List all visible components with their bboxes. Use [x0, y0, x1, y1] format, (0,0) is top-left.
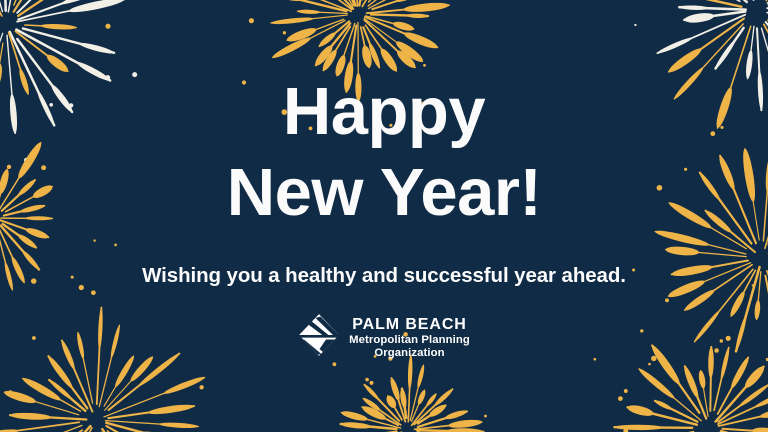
palm-beach-mpo-diamond-logo-icon — [298, 313, 340, 362]
card-content: Happy New Year! Wishing you a healthy an… — [0, 0, 768, 432]
logo-wordmark: PALM BEACH Metropolitan Planning Organiz… — [349, 316, 470, 359]
palm-beach-mpo-logo: PALM BEACH Metropolitan Planning Organiz… — [298, 313, 470, 362]
greeting-subtitle: Wishing you a healthy and successful yea… — [142, 264, 626, 288]
greeting-line-2: New Year! — [0, 159, 768, 226]
logo-secondary-line-1: Metropolitan Planning — [349, 334, 470, 346]
new-year-greeting-card: Happy New Year! Wishing you a healthy an… — [0, 0, 768, 432]
greeting-line-1: Happy — [0, 78, 768, 145]
logo-primary-text: PALM BEACH — [352, 316, 466, 333]
logo-secondary-line-2: Organization — [374, 347, 444, 359]
